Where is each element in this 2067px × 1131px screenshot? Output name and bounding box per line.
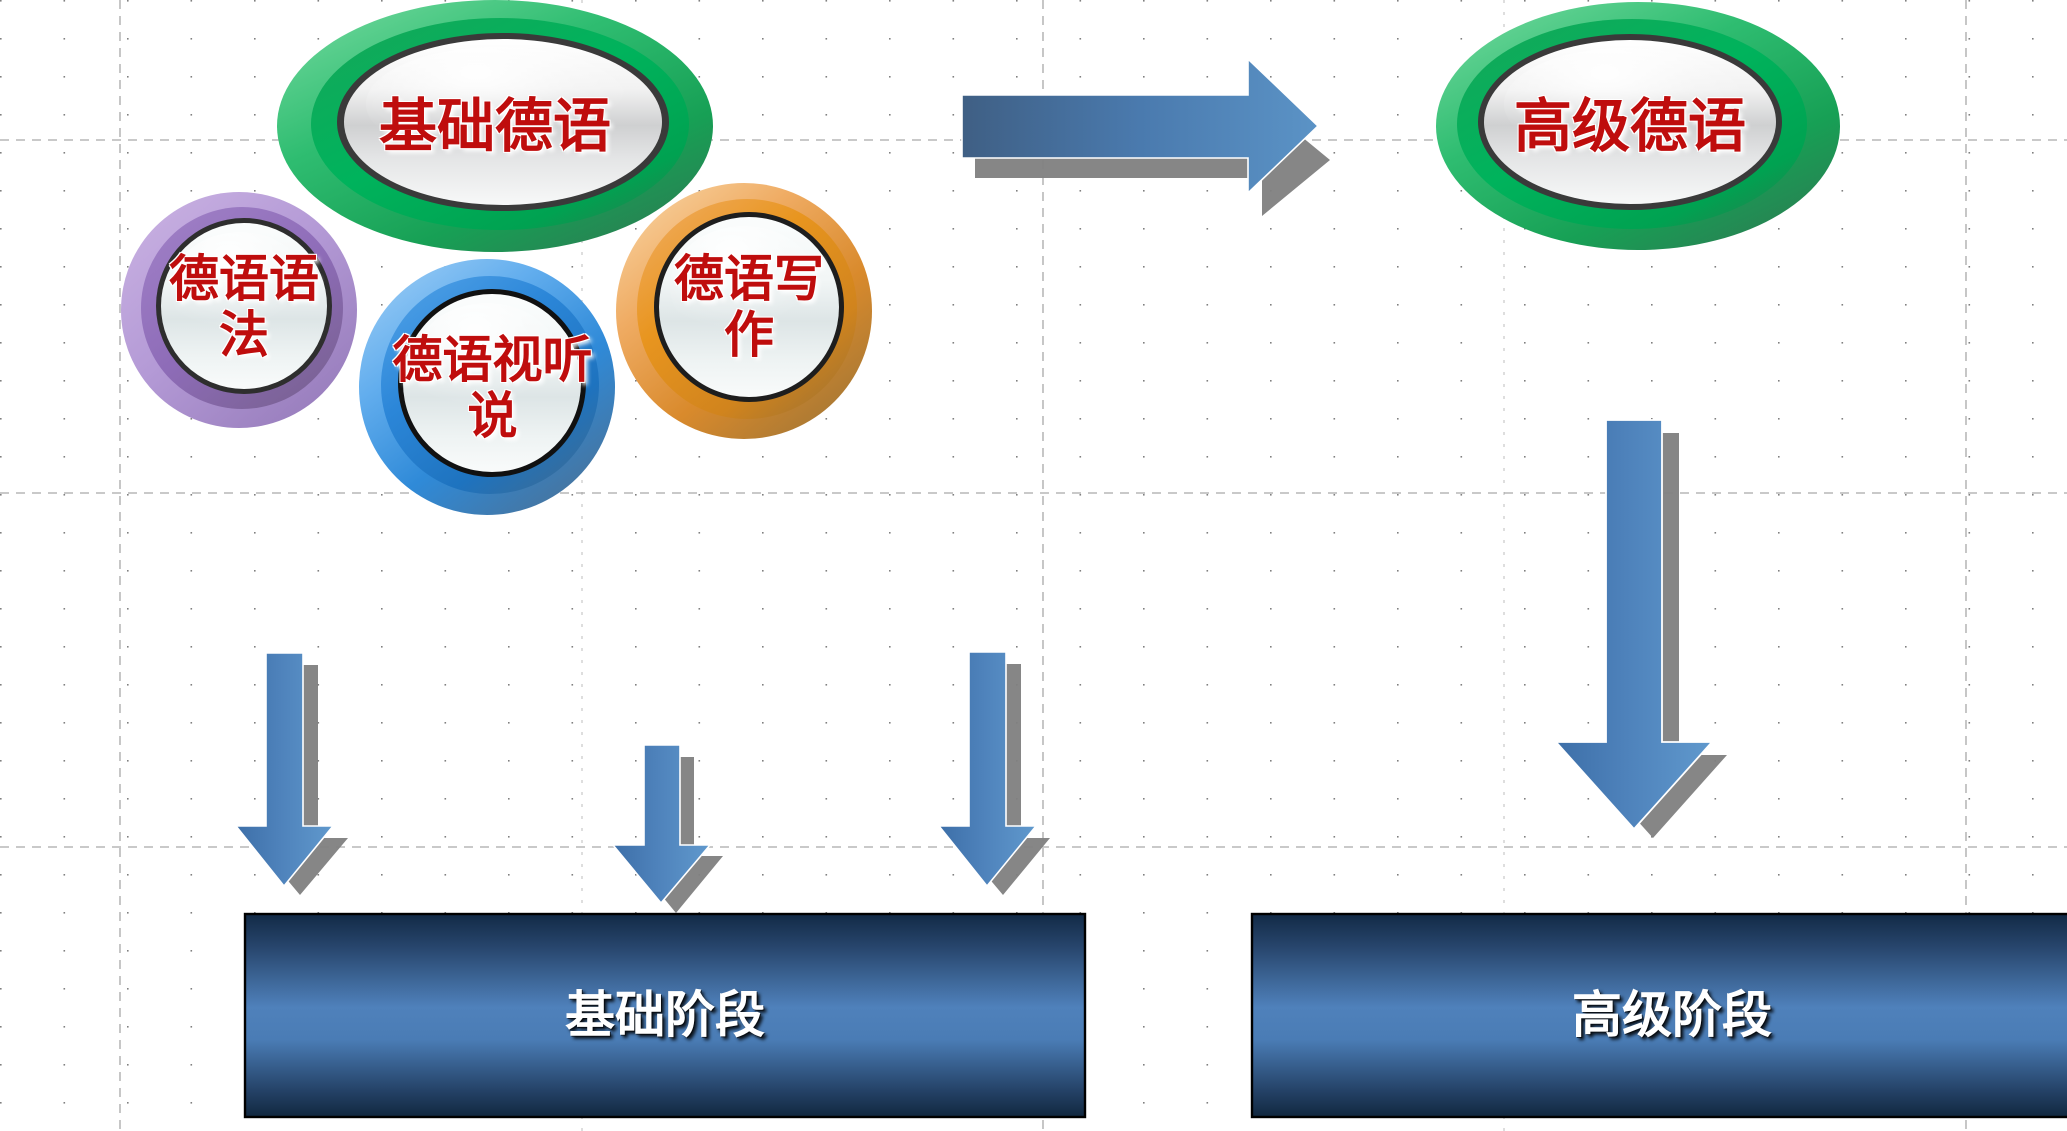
advanced-german-to-advanced-stage-arrow <box>1556 420 1727 838</box>
diagram-canvas: 基础德语 高级德语 德语语法 德语视听说 德语写作 基础阶段 高级阶段 <box>0 0 2067 1131</box>
german-listening-speaking-node <box>359 259 615 515</box>
basic-german-node <box>277 0 713 252</box>
arrow-down-body-4 <box>1556 420 1712 829</box>
basic-to-advanced-arrow <box>962 59 1330 216</box>
listening-to-basic-stage-arrow <box>613 745 723 913</box>
diagram-shapes <box>0 0 2067 1131</box>
basic-stage-bar <box>245 914 1085 1117</box>
german-writing-node <box>616 183 872 439</box>
advanced-german-node <box>1436 2 1840 250</box>
german-grammar-node <box>121 192 357 428</box>
advanced-stage-bar <box>1252 914 2067 1117</box>
writing-to-basic-stage-arrow <box>939 652 1050 895</box>
grammar-to-basic-stage-arrow <box>236 653 348 895</box>
